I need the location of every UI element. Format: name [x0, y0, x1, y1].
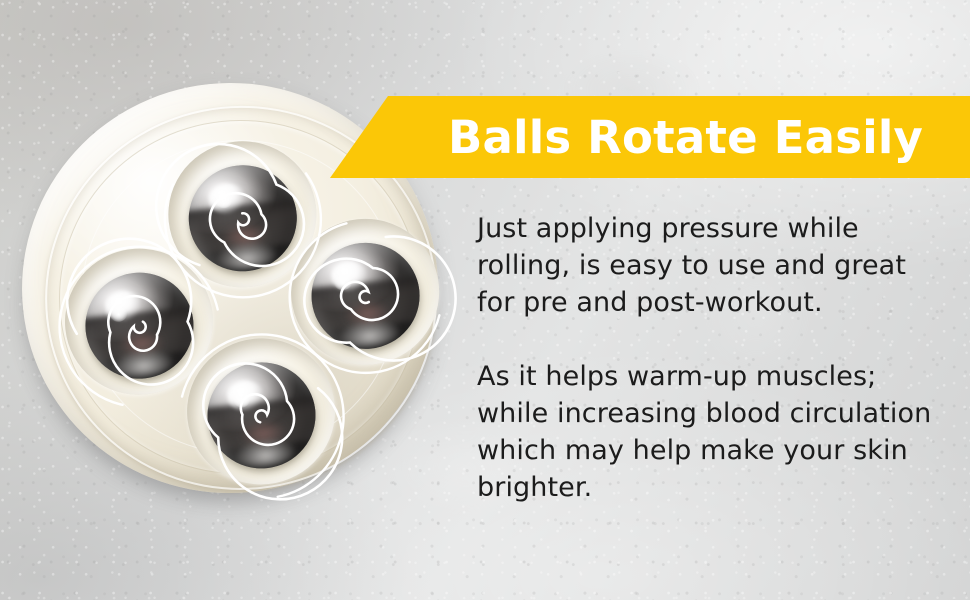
feature-copy: Just applying pressure while rolling, is… [477, 210, 937, 506]
paragraph-spacer [477, 321, 937, 358]
ball-glint [109, 306, 127, 323]
ball-glint [215, 193, 232, 209]
ball-glint [233, 392, 250, 408]
headline-title: Balls Rotate Easily [0, 96, 970, 178]
copy-paragraph-1: Just applying pressure while rolling, is… [477, 210, 937, 321]
copy-paragraph-2: As it helps warm-up muscles; while incre… [477, 358, 937, 506]
product-feature-banner: Balls Rotate Easily Just applying pressu… [0, 0, 970, 600]
ball-glint [333, 274, 352, 291]
